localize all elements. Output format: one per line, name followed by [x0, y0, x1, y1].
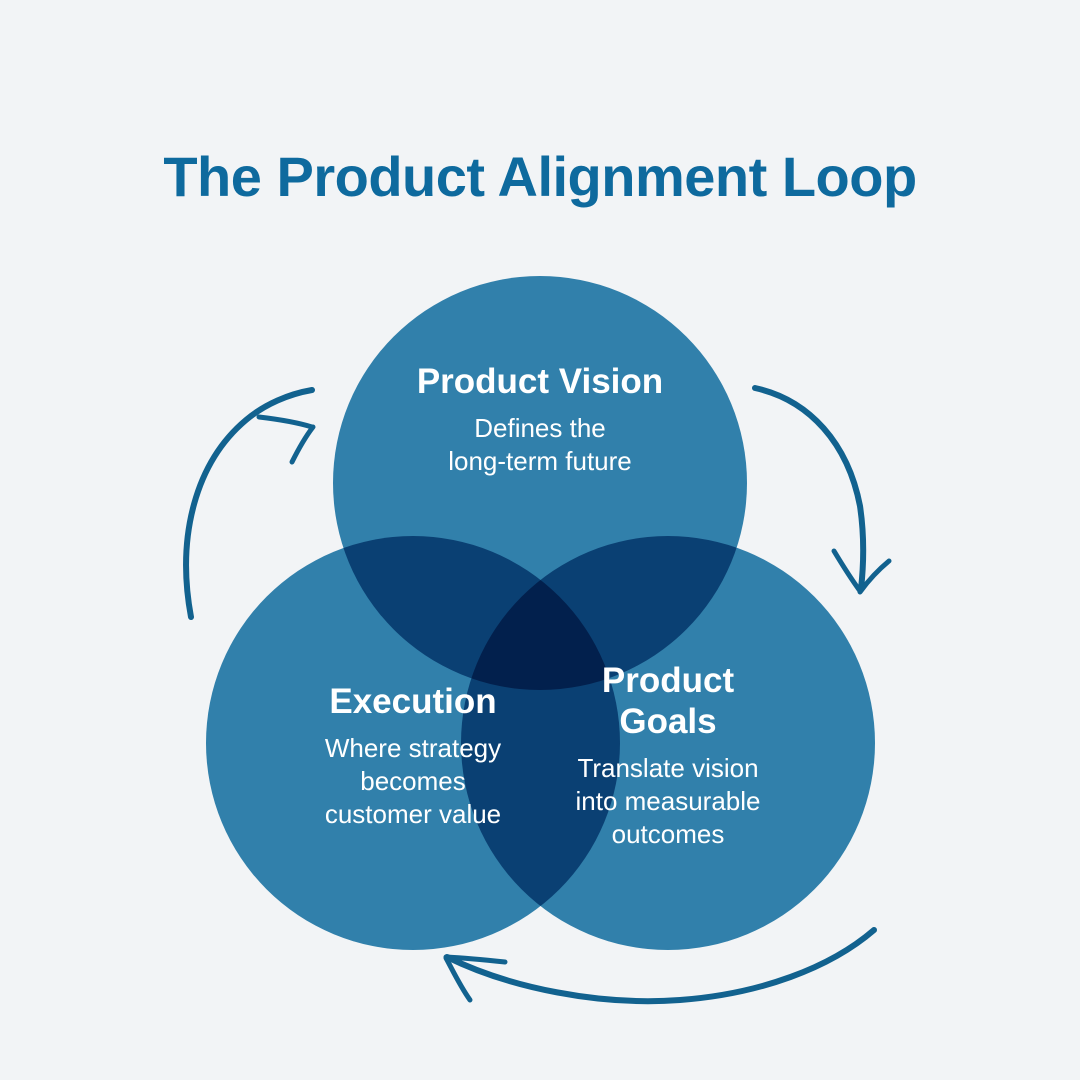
arrow-vision-to-goals-head-left — [834, 551, 860, 591]
diagram-canvas: The Product Alignment Loop — [0, 0, 1080, 1080]
venn-circles — [206, 276, 875, 950]
circle-product-goals[interactable] — [461, 536, 875, 950]
arrow-execution-to-vision-head-upper — [259, 417, 312, 427]
arrow-vision-to-goals — [755, 388, 863, 589]
arrow-execution-to-vision-head-lower — [292, 427, 313, 462]
venn-diagram: Product Vision Defines the long-term fut… — [0, 0, 1080, 1080]
venn-graphics — [0, 0, 1080, 1080]
